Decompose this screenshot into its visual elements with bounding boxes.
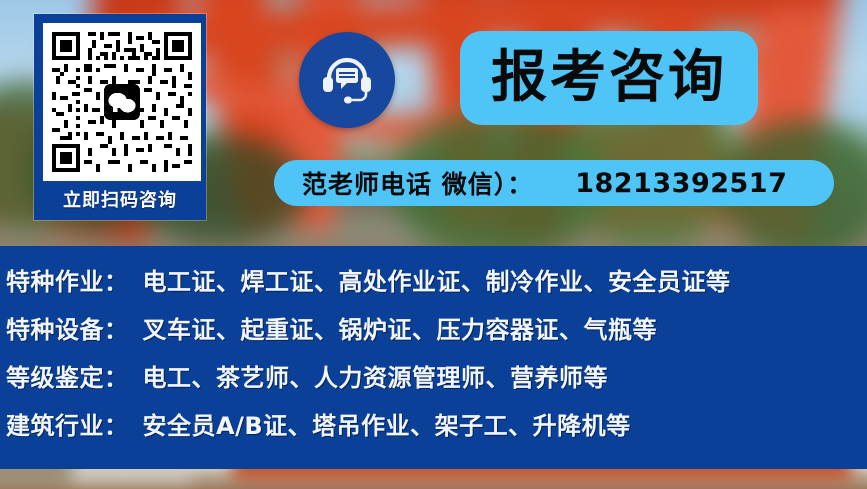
- category-row: 建筑行业： 安全员A/B证、塔吊作业、架子工、升降机等: [6, 406, 867, 441]
- headset-icon: [317, 50, 377, 110]
- contact-phone-number[interactable]: 18213392517: [575, 168, 787, 199]
- headset-support-badge: [299, 32, 395, 128]
- footer-blur-layer: [0, 469, 867, 489]
- contact-pill[interactable]: 范老师电话 微信）： 18213392517: [274, 160, 834, 206]
- footer-shape: [62, 469, 192, 483]
- category-row: 等级鉴定： 电工、茶艺师、人力资源管理师、营养师等: [6, 358, 867, 393]
- promo-poster: 立即扫码咨询 报考咨询 范老师电话 微信）： 18213392517 特种作业：…: [0, 0, 867, 489]
- category-items: 电工、茶艺师、人力资源管理师、营养师等: [143, 358, 609, 393]
- footer-photo-strip: [0, 469, 867, 489]
- qr-code-card[interactable]: 立即扫码咨询: [34, 14, 206, 220]
- footer-beam: [232, 469, 852, 481]
- category-row: 特种设备： 叉车证、起重证、锅炉证、压力容器证、气瓶等: [6, 310, 867, 345]
- category-items: 电工证、焊工证、高处作业证、制冷作业、安全员证等: [143, 262, 731, 297]
- category-label: 特种作业：: [6, 262, 129, 297]
- category-label: 特种设备：: [6, 310, 129, 345]
- category-items: 安全员A/B证、塔吊作业、架子工、升降机等: [143, 406, 631, 441]
- category-items: 叉车证、起重证、锅炉证、压力容器证、气瓶等: [143, 310, 658, 345]
- title-pill: 报考咨询: [460, 31, 758, 125]
- category-label: 等级鉴定：: [6, 358, 129, 393]
- category-label: 建筑行业：: [6, 406, 129, 441]
- page-title: 报考咨询: [491, 50, 727, 106]
- certificate-categories-panel: 特种作业： 电工证、焊工证、高处作业证、制冷作业、安全员证等 特种设备： 叉车证…: [0, 246, 867, 469]
- footer-shape: [0, 469, 72, 483]
- qr-code-image[interactable]: [43, 23, 201, 181]
- contact-label: 范老师电话 微信）：: [302, 165, 533, 201]
- category-row: 特种作业： 电工证、焊工证、高处作业证、制冷作业、安全员证等: [6, 262, 867, 297]
- qr-caption: 立即扫码咨询: [38, 186, 202, 212]
- wechat-qr-code-icon: [48, 28, 196, 176]
